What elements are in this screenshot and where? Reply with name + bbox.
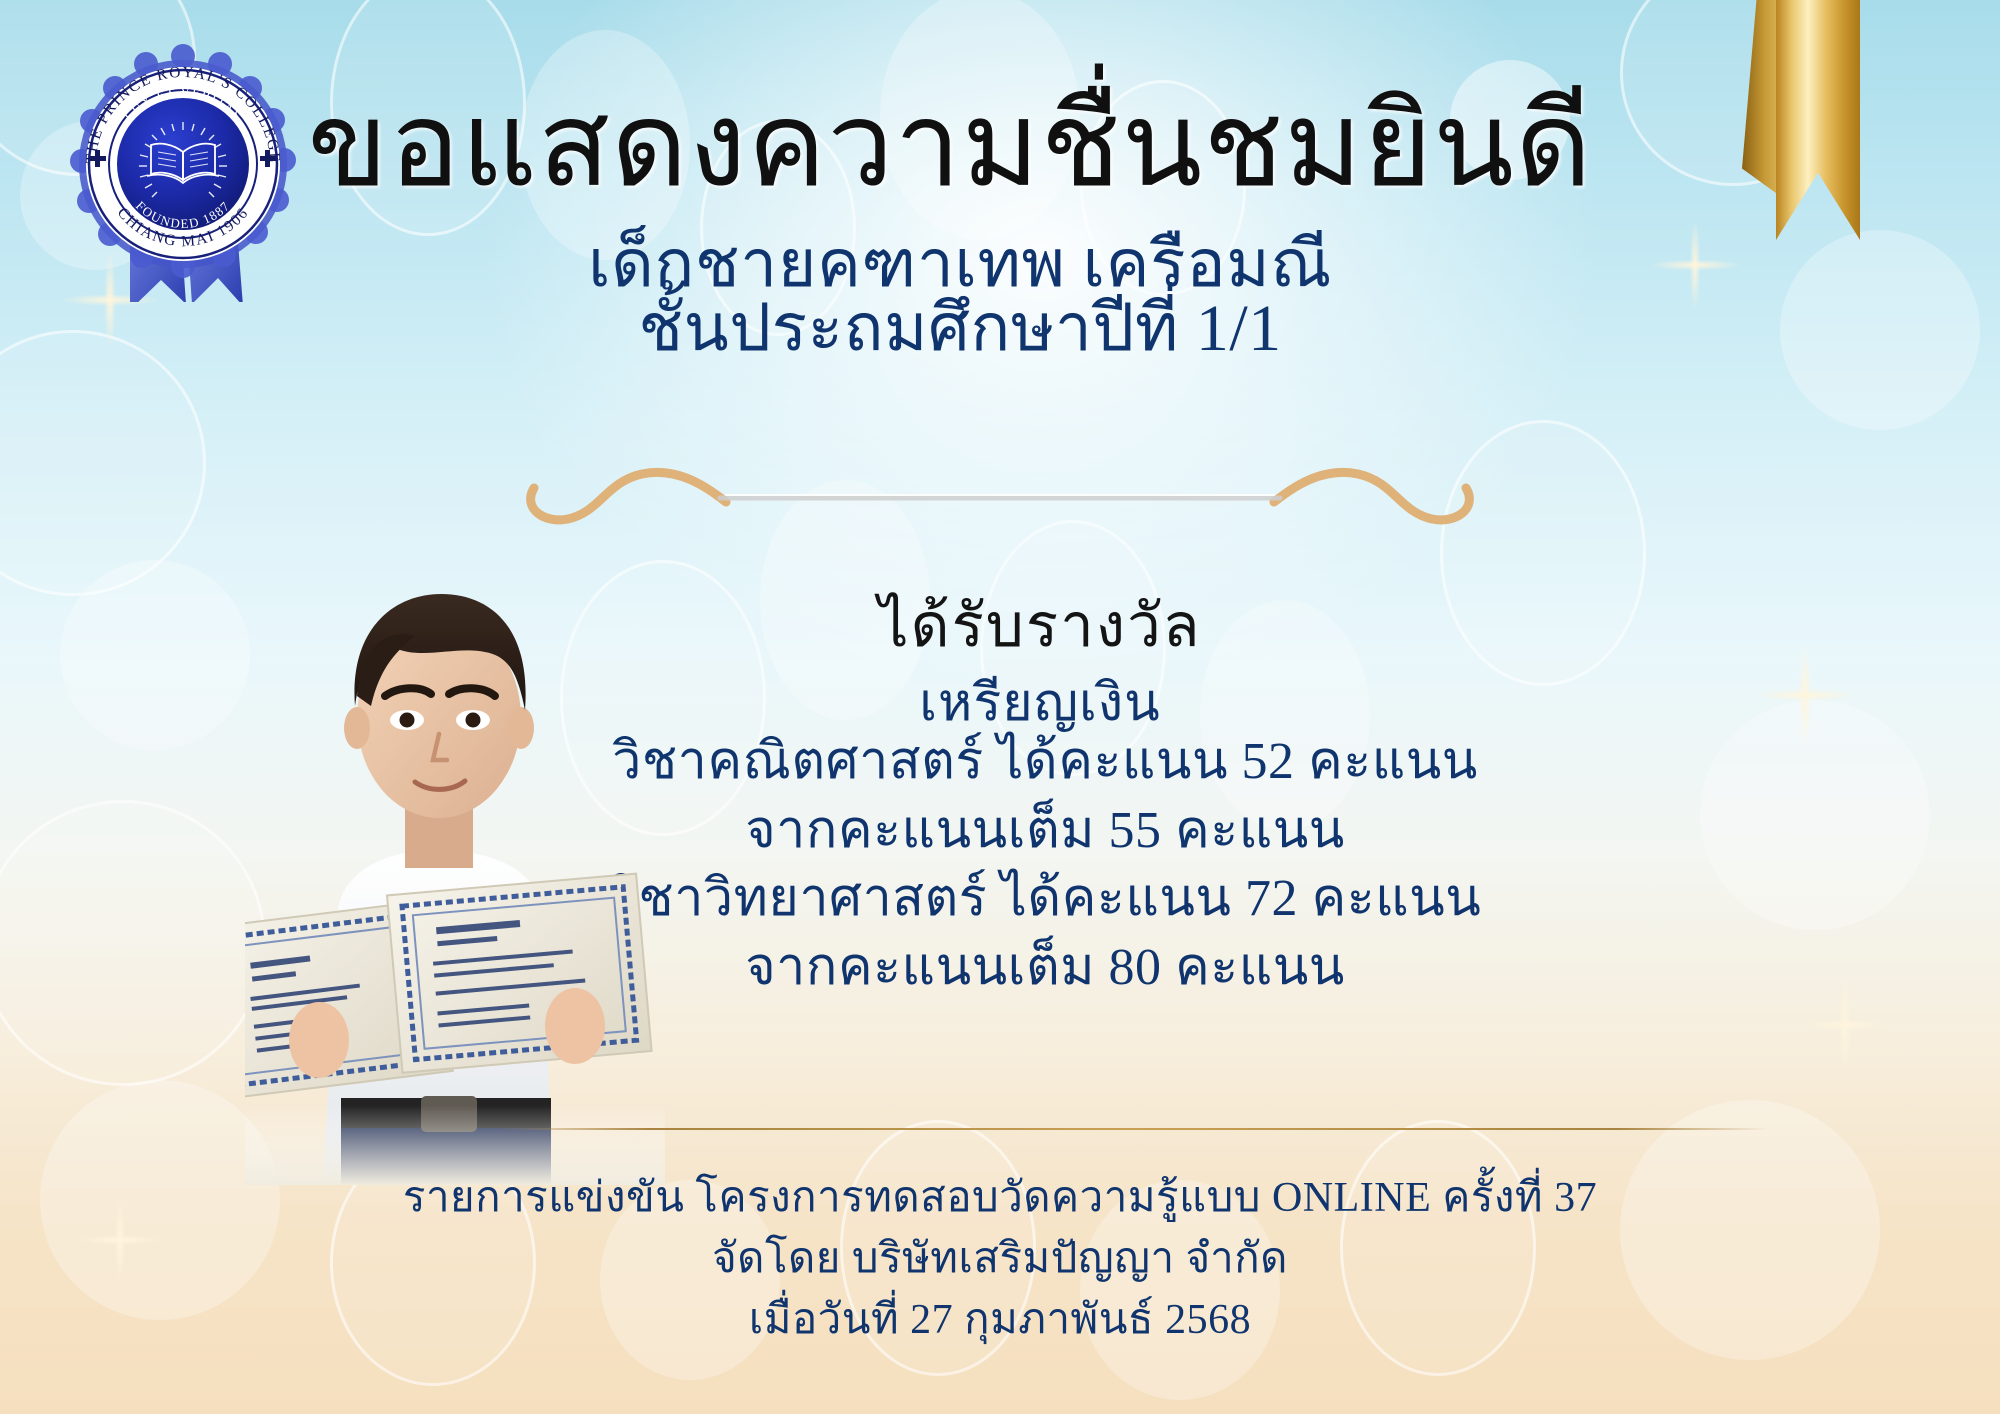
- footer-date: เมื่อวันที่ 27 กุมภาพันธ์ 2568: [330, 1290, 1670, 1351]
- bokeh-circle: [1700, 700, 1930, 930]
- footer-divider: [498, 1128, 1768, 1130]
- bokeh-circle: [40, 1080, 280, 1320]
- ribbon-tail: [1742, 0, 1780, 196]
- certificate-canvas: THE PRINCE ROYAL'S COLLEGE CHIANG MAI 19…: [0, 0, 2000, 1414]
- bokeh-circle: [0, 330, 206, 596]
- student-grade: ชั้นประถมศึกษาปีที่ 1/1: [330, 292, 1590, 366]
- sparkle-icon: [1780, 960, 1910, 1090]
- student-name: เด็กชายคฑาเทพ เครือมณี: [330, 228, 1590, 302]
- bokeh-circle: [0, 800, 266, 1086]
- bokeh-circle: [1780, 230, 1980, 430]
- page-title: ขอแสดงความชื่นชมยินดี: [300, 86, 1600, 206]
- sparkle-icon: [1630, 200, 1760, 330]
- ribbon-band: [1776, 0, 1860, 240]
- footer-block: รายการแข่งขัน โครงการทดสอบวัดความรู้แบบ …: [330, 1168, 1670, 1351]
- seal-medallion: THE PRINCE ROYAL'S COLLEGE CHIANG MAI 19…: [70, 44, 296, 278]
- footer-event: รายการแข่งขัน โครงการทดสอบวัดความรู้แบบ …: [330, 1168, 1670, 1229]
- sparkle-icon: [60, 1180, 180, 1300]
- award-heading: ได้รับรางวัล: [540, 578, 1540, 673]
- bokeh-circle: [60, 560, 250, 750]
- school-seal: THE PRINCE ROYAL'S COLLEGE CHIANG MAI 19…: [68, 42, 298, 302]
- student-photo: [245, 520, 665, 1185]
- sparkle-icon: [1730, 620, 1880, 770]
- gold-ribbon-decoration: [1776, 0, 1860, 240]
- footer-organizer: จัดโดย บริษัทเสริมปัญญา จำกัด: [330, 1229, 1670, 1290]
